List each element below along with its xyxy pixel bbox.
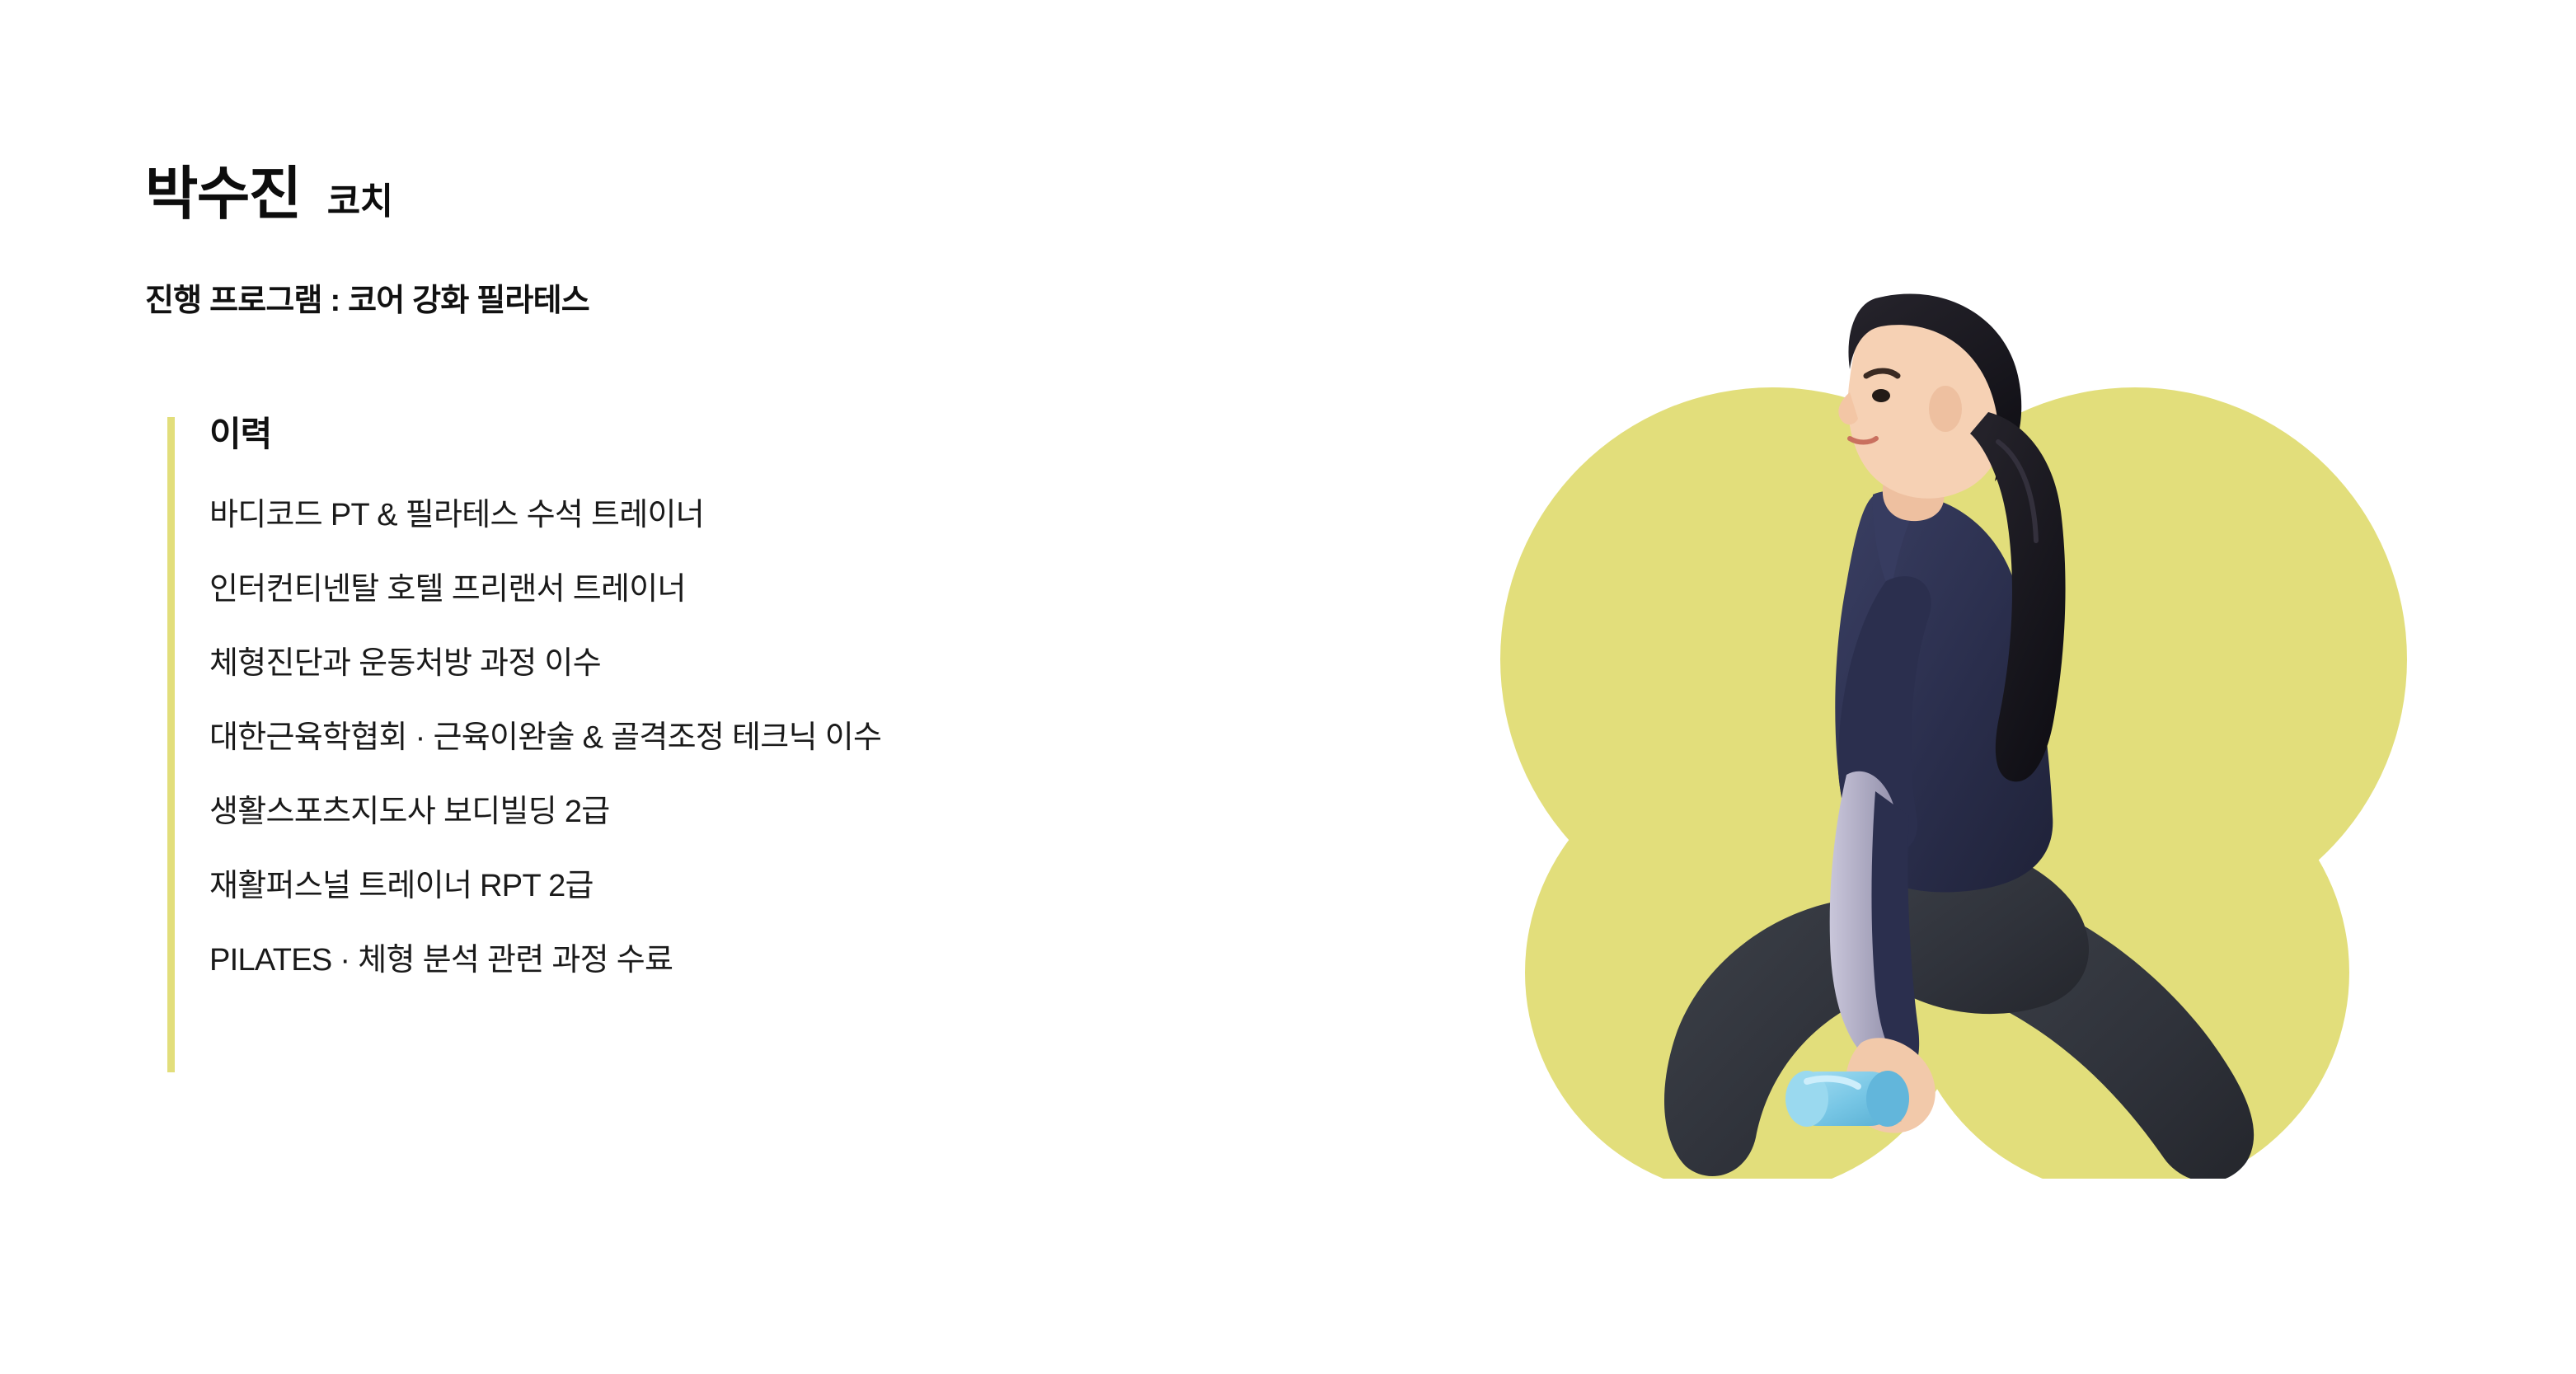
list-item: 인터컨티넨탈 호텔 프리랜서 트레이너 <box>209 574 1382 605</box>
list-item: 체형진단과 운동처방 과정 이수 <box>209 648 1382 679</box>
career-block: 이력 바디코드 PT & 필라테스 수석 트레이너 인터컨티넨탈 호텔 프리랜서… <box>145 417 1382 976</box>
coach-photo-area <box>1500 247 2407 1179</box>
coach-role: 코치 <box>327 184 393 220</box>
career-heading: 이력 <box>209 417 1382 452</box>
list-item: 재활퍼스널 트레이너 RPT 2급 <box>209 870 1382 902</box>
program-line: 진행 프로그램 : 코어 강화 필라테스 <box>145 285 1382 317</box>
coach-name-row: 박수진 코치 <box>145 165 1382 223</box>
eye <box>1872 389 1890 402</box>
coach-profile-page: 박수진 코치 진행 프로그램 : 코어 강화 필라테스 이력 바디코드 PT &… <box>0 0 2576 1374</box>
dumbbell <box>1785 1071 1909 1127</box>
list-item: 바디코드 PT & 필라테스 수석 트레이너 <box>209 499 1382 531</box>
coach-photo-illustration <box>1500 247 2407 1179</box>
list-item: 생활스포츠지도사 보디빌딩 2급 <box>209 796 1382 828</box>
ear <box>1929 386 1962 432</box>
list-item: 대한근육학협회 · 근육이완술 & 골격조정 테크닉 이수 <box>209 722 1382 753</box>
career-accent-bar <box>167 417 175 1072</box>
career-list: 바디코드 PT & 필라테스 수석 트레이너 인터컨티넨탈 호텔 프리랜서 트레… <box>209 499 1382 976</box>
list-item: PILATES · 체형 분석 관련 과정 수료 <box>209 945 1382 976</box>
coach-name: 박수진 <box>145 165 301 223</box>
profile-text-column: 박수진 코치 진행 프로그램 : 코어 강화 필라테스 이력 바디코드 PT &… <box>145 165 1382 976</box>
